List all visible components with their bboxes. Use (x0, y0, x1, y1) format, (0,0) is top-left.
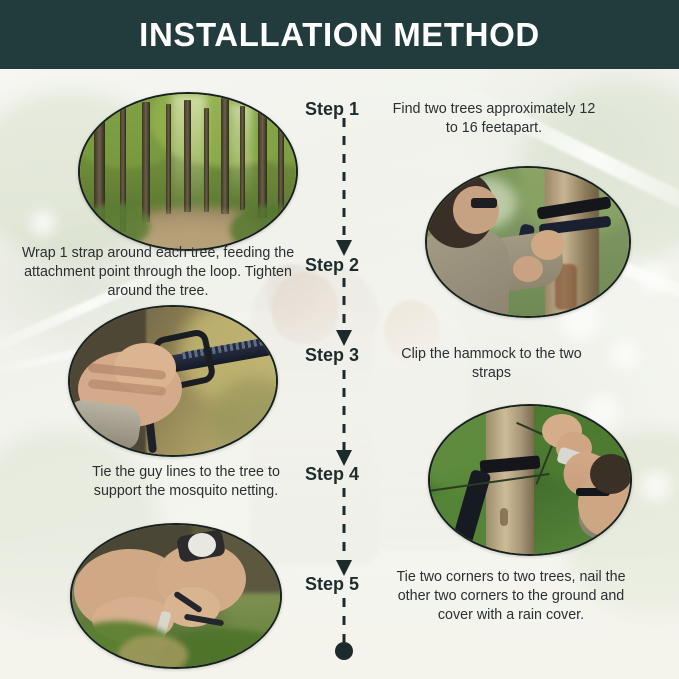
step-caption-3: Clip the hammock to the two straps (389, 345, 594, 383)
infographic-page: INSTALLATION METHOD (0, 0, 679, 679)
step-caption-5: Tie two corners to two trees, nail the o… (382, 568, 640, 625)
step-caption-2: Wrap 1 strap around each tree, feeding t… (18, 244, 298, 301)
page-title: INSTALLATION METHOD (139, 16, 540, 54)
step-label-1: Step 1 (305, 99, 359, 120)
step-caption-4: Tie the guy lines to the tree to support… (74, 463, 298, 501)
step-label-5: Step 5 (305, 574, 359, 595)
step-label-2: Step 2 (305, 255, 359, 276)
staking-line-into-ground-photo (70, 523, 282, 669)
wrapping-strap-around-tree-photo (425, 166, 631, 318)
step-label-3: Step 3 (305, 345, 359, 366)
tying-guy-line-to-tree-photo (428, 404, 632, 556)
carabiner-clip-on-strap-photo (68, 305, 278, 457)
forest-with-trail-photo (78, 92, 298, 251)
header-bar: INSTALLATION METHOD (0, 0, 679, 69)
step-caption-1: Find two trees approximately 12 to 16 fe… (389, 100, 599, 138)
step-label-4: Step 4 (305, 464, 359, 485)
